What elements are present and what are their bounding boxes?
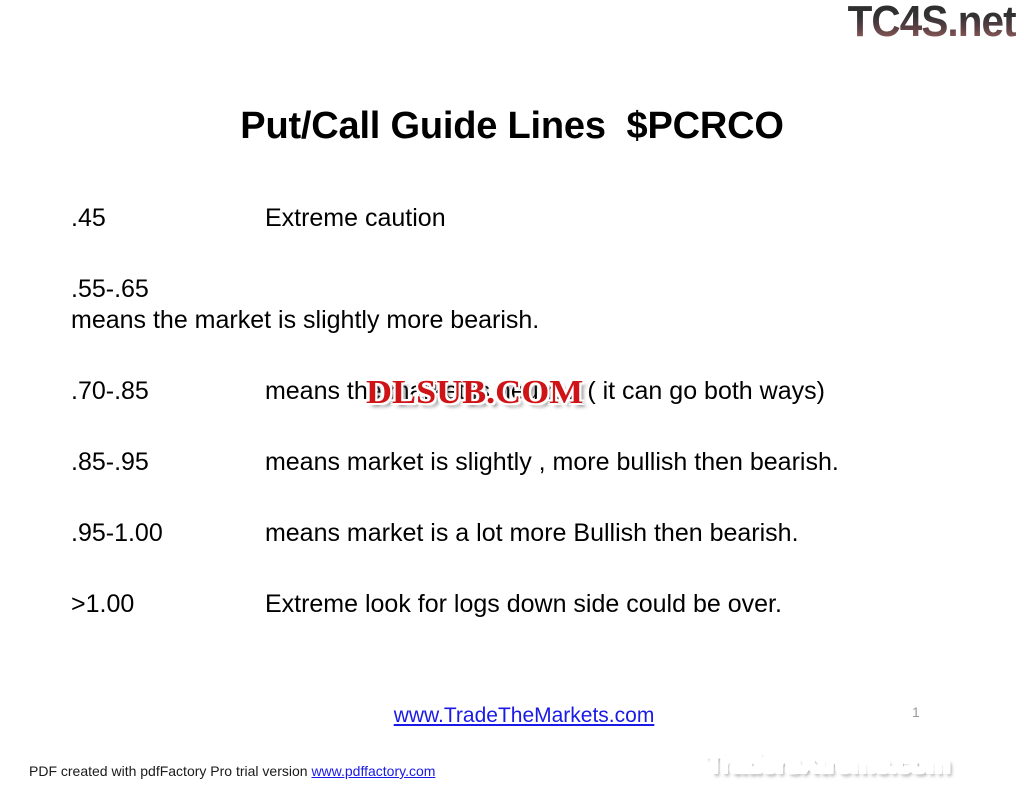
- list-item: >1.00 Extreme look for logs down side co…: [71, 589, 961, 620]
- list-item: .70-.85 means the market is neutral. ( i…: [71, 376, 961, 407]
- pdf-factory-link[interactable]: www.pdffactory.com: [311, 763, 435, 779]
- site-link-container: www.TradeTheMarkets.com: [0, 704, 1024, 728]
- page-title: Put/Call Guide Lines $PCRCO: [0, 105, 1024, 148]
- threshold-description: means market is slightly , more bullish …: [265, 447, 875, 478]
- threshold-label: .55-.65: [71, 274, 348, 305]
- threshold-description: Extreme caution: [265, 203, 875, 234]
- threshold-description: means the market is neutral. ( it can go…: [265, 376, 875, 407]
- threshold-description: Extreme look for logs down side could be…: [265, 589, 875, 620]
- trade-the-markets-link[interactable]: www.TradeTheMarkets.com: [394, 704, 655, 727]
- threshold-label: .45: [71, 203, 258, 234]
- threshold-label: >1.00: [71, 589, 258, 620]
- tc4s-logo: TC4S.net: [848, 0, 1016, 46]
- list-item: .85-.95 means market is slightly , more …: [71, 447, 961, 478]
- list-item: .55-.65 means the market is slightly mor…: [71, 274, 961, 336]
- list-item: .45 Extreme caution: [71, 203, 961, 234]
- threshold-description: means market is a lot more Bullish then …: [265, 518, 875, 549]
- list-item: .95-1.00 means market is a lot more Bull…: [71, 518, 961, 549]
- pdf-factory-footer: PDF created with pdfFactory Pro trial ve…: [29, 763, 435, 779]
- slide-canvas: TC4S.net Put/Call Guide Lines $PCRCO .45…: [0, 0, 1024, 791]
- threshold-label: .95-1.00: [71, 518, 258, 549]
- tradersxtreme-logo-text: TradersXtreme.com: [706, 748, 950, 778]
- threshold-label: .85-.95: [71, 447, 258, 478]
- tradersxtreme-logo: TradersXtreme.com: [706, 748, 950, 779]
- guide-lines-list: .45 Extreme caution .55-.65 means the ma…: [71, 203, 961, 660]
- pdf-factory-footer-text: PDF created with pdfFactory Pro trial ve…: [29, 763, 311, 779]
- page-number: 1: [912, 704, 920, 720]
- threshold-description: means the market is slightly more bearis…: [71, 305, 681, 336]
- threshold-label: .70-.85: [71, 376, 258, 407]
